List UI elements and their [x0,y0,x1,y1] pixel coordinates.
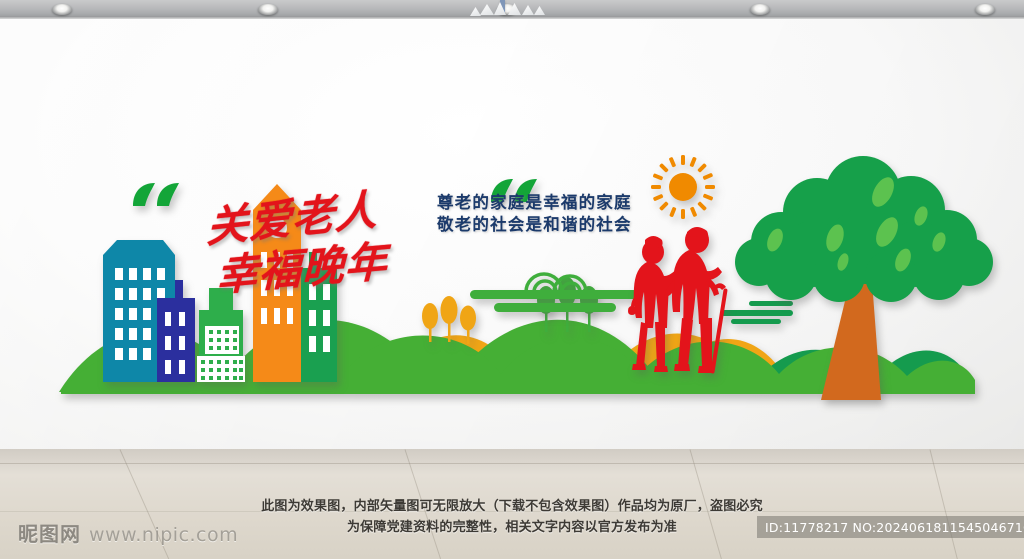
artwork-title: 关爱老人 幸福晚年 [200,185,415,300]
wall-artwork: 关爱老人 幸福晚年 尊老的家庭是幸福的家庭 敬老的社会是和谐的社会 [45,140,975,415]
wall-floor-shadow [0,449,1024,475]
downlight [258,4,278,15]
walking-cane [710,288,727,374]
tree-canopy [735,156,993,302]
subtitle-line-1: 尊老的家庭是幸福的家庭 [437,192,632,214]
leaf-sprout-left [131,182,183,208]
small-tree-orange [422,296,476,344]
downlight [975,4,995,15]
downlight [52,4,72,15]
elderly-couple-silhouette [605,226,745,386]
watermark: 昵图网 www.nipic.com [18,518,238,547]
id-badge: ID:11778217 NO:20240618115450467104 [757,516,1024,538]
downlight [750,4,770,15]
watermark-cn: 昵图网 [18,518,81,547]
artwork-subtitle: 尊老的家庭是幸福的家庭 敬老的社会是和谐的社会 [437,192,632,236]
footer-caption-line-1: 此图为效果图，内部矢量图可无限放大（下载不包含效果图）作品均为原厂，盗图必究 [0,496,1024,517]
elderly-man [664,227,728,374]
sun-icon [648,152,718,222]
big-tree [735,150,995,410]
room-scene: 关爱老人 幸福晚年 尊老的家庭是幸福的家庭 敬老的社会是和谐的社会 此图为效果图… [0,0,1024,559]
subtitle-line-2: 敬老的社会是和谐的社会 [437,214,632,236]
watermark-en: www.nipic.com [89,524,238,546]
